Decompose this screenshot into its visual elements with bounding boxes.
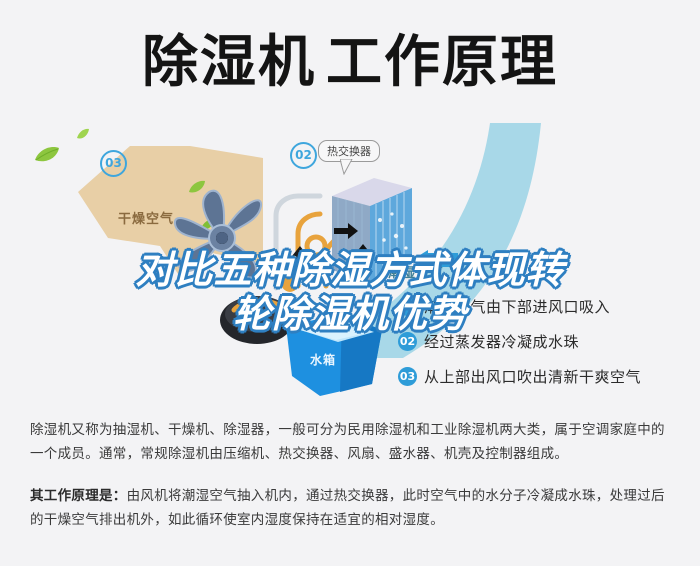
diagram-badge-03: 03 (100, 150, 127, 177)
dehumidifier-machine: 水箱 (160, 146, 420, 386)
step-list: 01 潮湿空气由下部进风口吸入 02 经过蒸发器冷凝成水珠 03 从上部出风口吹… (398, 296, 688, 401)
list-item: 03 从上部出风口吹出清新干爽空气 (398, 366, 688, 387)
step-number-badge: 03 (398, 367, 417, 386)
leaf-icon (34, 146, 60, 164)
page-title: 除湿机工作原理 (0, 30, 700, 96)
title-part-1: 除湿机 (142, 30, 316, 95)
body-copy: 除湿机又称为抽湿机、干燥机、除湿器，一般可分为民用除湿机和工业除湿机两大类，属于… (30, 418, 675, 550)
step-text: 潮湿空气由下部进风口吸入 (424, 296, 610, 317)
step-text: 经过蒸发器冷凝成水珠 (424, 331, 579, 352)
title-part-2: 工作原理 (326, 30, 558, 95)
fan-icon (165, 184, 280, 292)
list-item: 01 潮湿空气由下部进风口吸入 (398, 296, 688, 317)
infographic-page: 除湿机工作原理 干燥空气 03 (0, 0, 700, 566)
step-number-badge: 01 (398, 297, 417, 316)
paragraph-2: 其工作原理是：由风机将潮湿空气抽入机内，通过热交换器，此时空气中的水分子冷凝成水… (30, 484, 675, 532)
leaf-icon (76, 128, 90, 140)
illustration-stage: 干燥空气 03 02 01 热交换器 (0, 118, 700, 403)
paragraph-1: 除湿机又称为抽湿机、干燥机、除湿器，一般可分为民用除湿机和工业除湿机两大类，属于… (30, 418, 675, 466)
step-number-badge: 02 (398, 332, 417, 351)
list-item: 02 经过蒸发器冷凝成水珠 (398, 331, 688, 352)
water-tank-label: 水箱 (310, 351, 336, 368)
humid-air-label: 潮湿空气 (388, 262, 444, 281)
step-text: 从上部出风口吹出清新干爽空气 (424, 366, 641, 387)
paragraph-2-lead: 其工作原理是： (30, 488, 127, 504)
